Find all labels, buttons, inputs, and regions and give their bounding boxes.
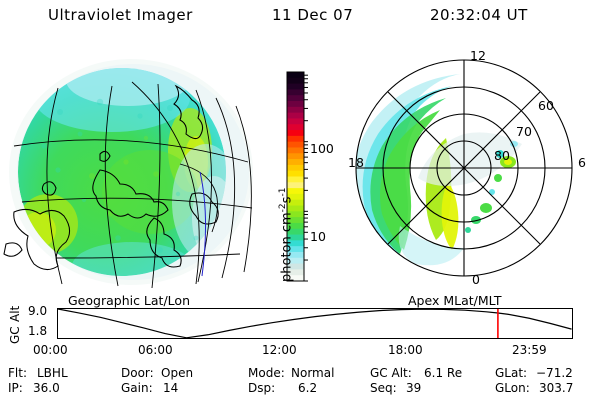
- status-ip-value: 36.0: [33, 381, 60, 395]
- observation-date: 11 Dec 07: [272, 6, 353, 24]
- mlt-label-6: 6: [578, 155, 586, 170]
- status-seq-value: 39: [406, 381, 421, 395]
- status-mode-key: Mode:: [248, 366, 285, 380]
- status-dsp-value: 6.2: [298, 381, 317, 395]
- status-mode-value: Normal: [291, 366, 334, 380]
- colorbar-ticks: [304, 75, 308, 281]
- orbit-altitude-trace: [58, 309, 572, 338]
- status-door-value: Open: [161, 366, 193, 380]
- colorbar-units-exp1: -2: [278, 203, 288, 212]
- status-gain-value: 14: [163, 381, 178, 395]
- orbit-xtick-1800: 18:00: [388, 343, 423, 357]
- status-dsp-key: Dsp:: [248, 381, 275, 395]
- right-panel-caption: Apex MLat/MLT: [408, 293, 502, 308]
- status-gcalt-value: 6.1 Re: [424, 366, 462, 380]
- status-flt-key: Flt:: [8, 366, 27, 380]
- mlat-label-60: 60: [538, 98, 554, 113]
- status-door-key: Door:: [121, 366, 154, 380]
- mlt-spokes: [356, 60, 572, 276]
- colorbar-tick-label-100: 100: [310, 141, 334, 156]
- observation-time: 20:32:04 UT: [430, 6, 528, 24]
- orbit-xtick-1200: 12:00: [262, 343, 297, 357]
- mlat-label-70: 70: [516, 124, 532, 139]
- orbit-ylabel-alt: Alt: [8, 310, 30, 322]
- instrument-title: Ultraviolet Imager: [48, 6, 193, 24]
- colorbar-tick-label-10: 10: [310, 229, 326, 244]
- mlt-label-18: 18: [348, 155, 364, 170]
- left-panel-caption: Geographic Lat/Lon: [68, 293, 190, 308]
- orbit-ylabel-gc: GC: [8, 332, 30, 344]
- status-seq-key: Seq:: [370, 381, 397, 395]
- status-glon-key: GLon:: [495, 381, 530, 395]
- status-glon-value: 303.7: [539, 381, 573, 395]
- orbit-xtick-0000: 00:00: [33, 343, 68, 357]
- colorbar-units-s: s: [279, 197, 294, 204]
- orbit-ytick-top: 9.0: [28, 304, 47, 318]
- apex-polar-plot: [340, 42, 600, 298]
- orbit-altitude-plot[interactable]: [57, 308, 573, 339]
- status-gcalt-key: GC Alt:: [370, 366, 412, 380]
- geographic-globe-panel: [0, 42, 262, 298]
- mlt-label-0: 0: [472, 272, 480, 287]
- apex-polar-panel: [340, 42, 600, 298]
- mlt-label-12: 12: [470, 48, 486, 63]
- status-glat-key: GLat:: [495, 366, 527, 380]
- orbit-altitude-svg: [57, 308, 573, 339]
- orbit-xtick-2359: 23:59: [512, 343, 547, 357]
- mlat-label-80: 80: [494, 148, 510, 163]
- geographic-globe-image: [0, 42, 262, 298]
- orbit-xtick-0600: 06:00: [138, 343, 173, 357]
- orbit-ytick-bottom: 1.8: [28, 324, 47, 338]
- status-glat-value: −71.2: [536, 366, 573, 380]
- status-ip-key: IP:: [8, 381, 23, 395]
- colorbar-units-photon: photon cm: [279, 212, 294, 282]
- status-gain-key: Gain:: [121, 381, 153, 395]
- colorbar-units-exp2: -1: [278, 188, 288, 197]
- status-flt-value: LBHL: [37, 366, 68, 380]
